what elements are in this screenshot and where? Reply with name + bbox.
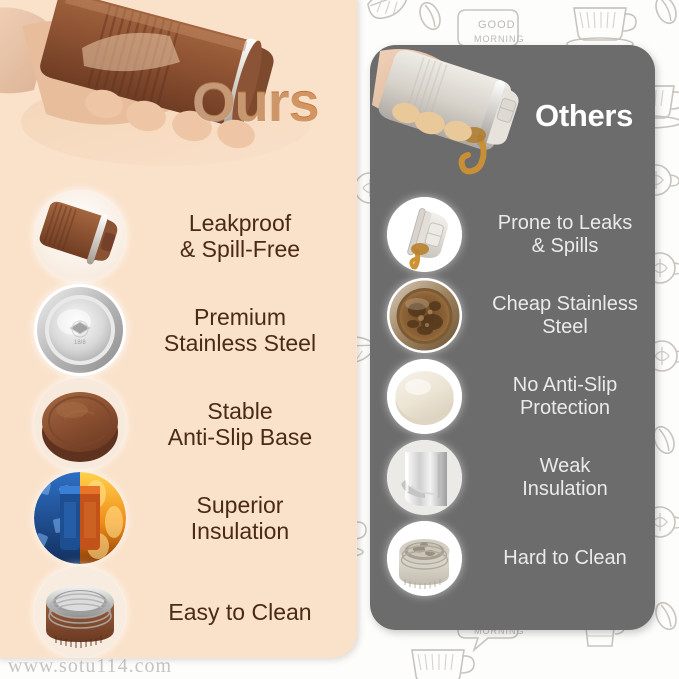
feature-line-2: Steel <box>476 316 654 339</box>
feature-line-1: Stable <box>142 398 338 424</box>
feature-line-1: Cheap Stainless <box>476 293 654 316</box>
site-watermark: www.sotu114.com <box>8 655 172 678</box>
feature-line-1: Leakproof <box>142 210 338 236</box>
feature-line-1: Easy to Clean <box>142 599 338 625</box>
feature-line-1: Hard to Clean <box>476 547 654 570</box>
others-feature-list: Prone to Leaks & Spills <box>370 45 655 630</box>
thin-single-wall-icon <box>387 440 462 515</box>
svg-text:18/8: 18/8 <box>74 340 86 346</box>
rusty-stained-interior-icon <box>387 278 462 353</box>
ours-feature-row-leakproof: Leakproof & Spill-Free <box>34 190 344 282</box>
dirty-narrow-opening-icon <box>387 521 462 596</box>
others-feature-row-no-antislip: No Anti-Slip Protection <box>387 359 655 434</box>
others-feature-row-leaks: Prone to Leaks & Spills <box>387 197 655 272</box>
leaking-white-lid-icon <box>387 197 462 272</box>
ours-feature-row-stainless: 18/8 Premium Stainless Steel <box>34 284 344 376</box>
others-feature-label: Cheap Stainless Steel <box>476 293 654 339</box>
smooth-plain-base-icon <box>387 359 462 434</box>
ours-feature-list: Leakproof & Spill-Free <box>0 0 357 658</box>
ours-feature-row-easy-clean: Easy to Clean <box>34 566 344 658</box>
ours-feature-label: Stable Anti-Slip Base <box>142 398 338 450</box>
others-feature-label: Prone to Leaks & Spills <box>476 212 654 258</box>
hot-cold-insulation-icon <box>34 472 126 564</box>
feature-line-2: Anti-Slip Base <box>142 424 338 450</box>
feature-line-2: Stainless Steel <box>142 330 338 356</box>
wide-mouth-opening-icon <box>34 566 126 658</box>
ours-feature-label: Superior Insulation <box>142 492 338 544</box>
feature-line-1: No Anti-Slip <box>476 374 654 397</box>
anti-slip-base-icon <box>34 378 126 470</box>
stainless-steel-interior-icon: 18/8 <box>34 284 126 376</box>
ours-feature-row-insulation: Superior Insulation <box>34 472 344 564</box>
feature-line-2: Insulation <box>476 478 654 501</box>
ours-panel: Ours <box>0 0 357 658</box>
others-feature-row-hard-clean: Hard to Clean <box>387 521 655 596</box>
feature-line-2: & Spills <box>476 235 654 258</box>
brown-lid-closed-icon <box>34 190 126 282</box>
others-feature-label: Weak Insulation <box>476 455 654 501</box>
others-feature-row-cheap-steel: Cheap Stainless Steel <box>387 278 655 353</box>
others-panel: Others <box>370 45 655 630</box>
ours-feature-label: Easy to Clean <box>142 599 338 625</box>
ours-feature-label: Premium Stainless Steel <box>142 304 338 356</box>
feature-line-2: Protection <box>476 397 654 420</box>
ours-feature-row-antislip: Stable Anti-Slip Base <box>34 378 344 470</box>
feature-line-2: & Spill-Free <box>142 236 338 262</box>
others-feature-row-weak-insulation: Weak Insulation <box>387 440 655 515</box>
feature-line-1: Prone to Leaks <box>476 212 654 235</box>
feature-line-2: Insulation <box>142 518 338 544</box>
feature-line-1: Weak <box>476 455 654 478</box>
feature-line-1: Superior <box>142 492 338 518</box>
others-feature-label: No Anti-Slip Protection <box>476 374 654 420</box>
others-feature-label: Hard to Clean <box>476 547 654 570</box>
feature-line-1: Premium <box>142 304 338 330</box>
ours-feature-label: Leakproof & Spill-Free <box>142 210 338 262</box>
infographic-canvas: GOOD MORNING <box>0 0 679 679</box>
